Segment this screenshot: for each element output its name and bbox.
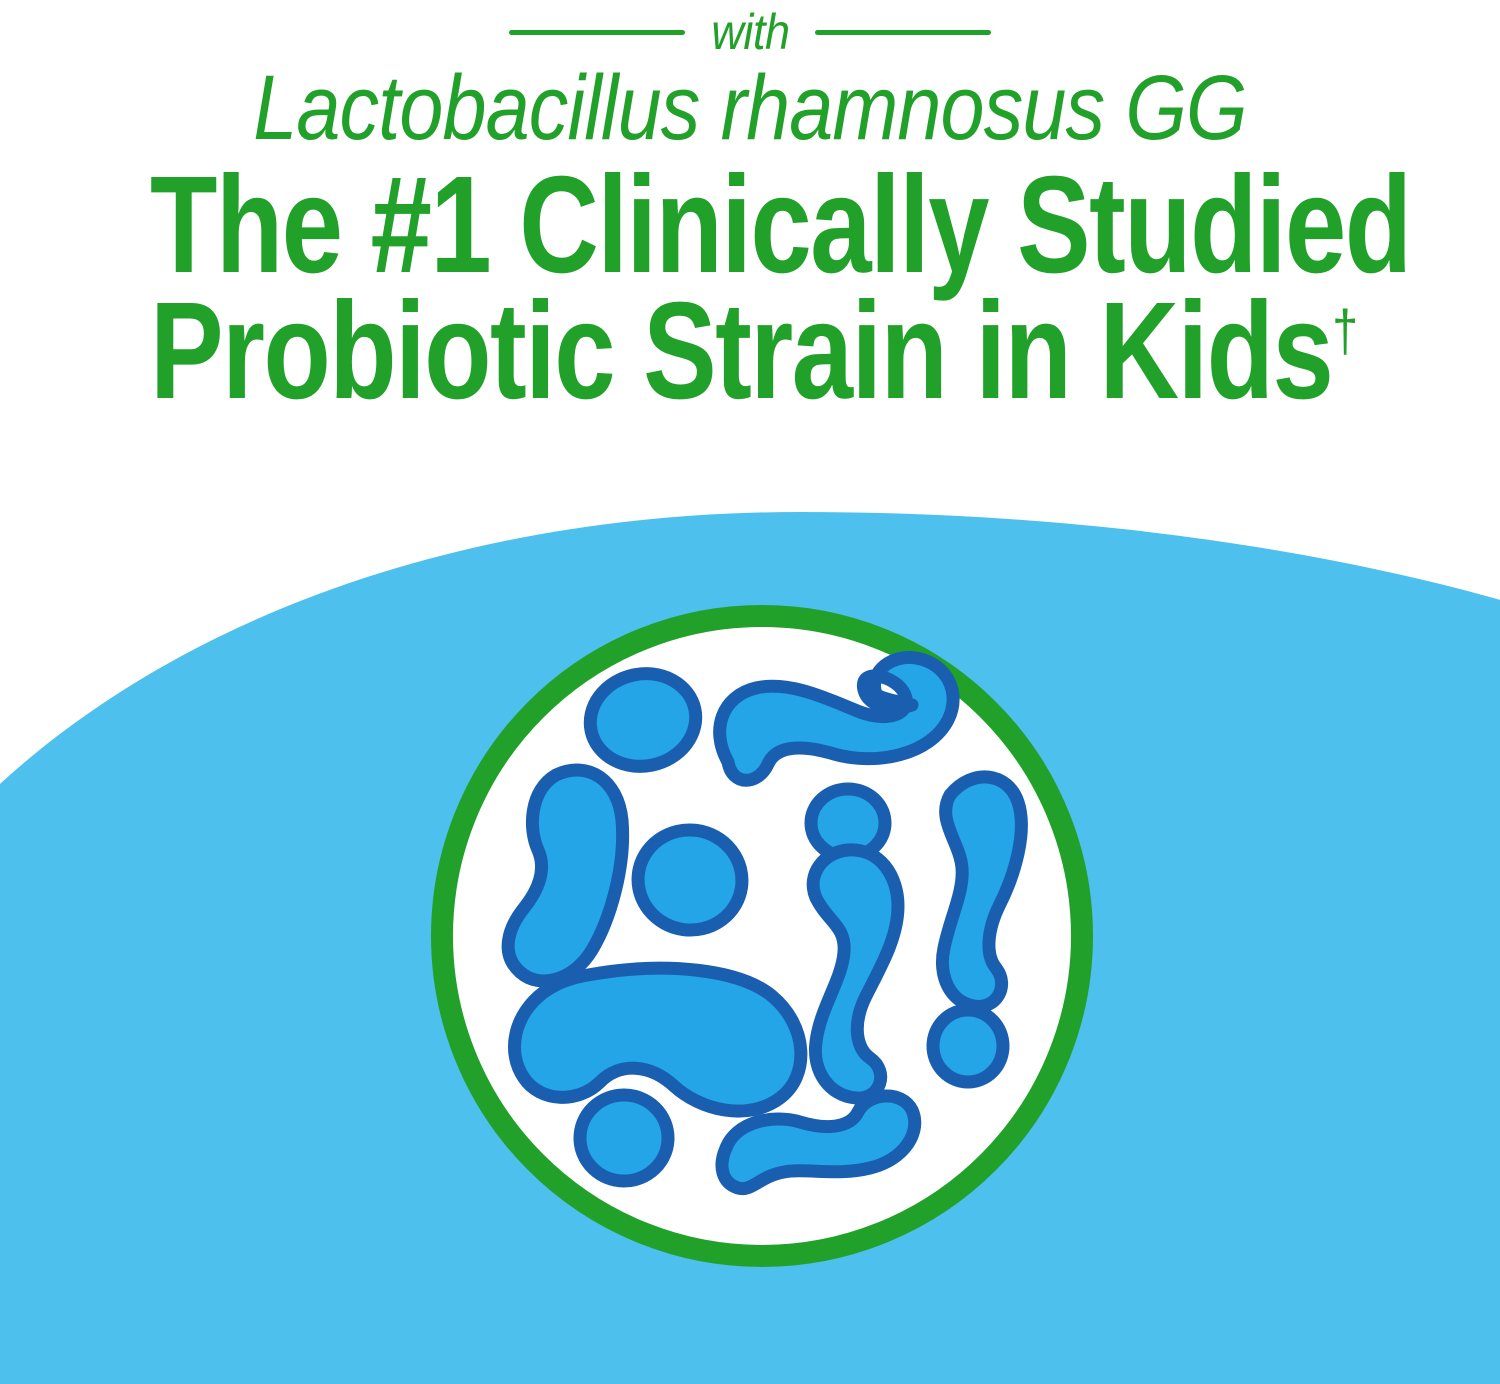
species-name: Lactobacillus rhamnosus GG (105, 58, 1395, 158)
bacteria-round-center (632, 823, 749, 937)
bacteria-small-round-right (933, 1010, 1003, 1082)
eyebrow-label: with (711, 7, 789, 57)
bacteria-round-bottom-left (580, 1095, 668, 1181)
eyebrow-row: with (0, 4, 1500, 60)
footnote-dagger-marker: † (1332, 299, 1358, 364)
probiotic-promo-banner: with Lactobacillus rhamnosus GG The #1 C… (0, 0, 1500, 1384)
eyebrow-rule-left (509, 30, 685, 35)
header-text-block: with Lactobacillus rhamnosus GG The #1 C… (0, 0, 1500, 470)
headline-line-2-text: Probiotic Strain in Kids (150, 274, 1332, 428)
eyebrow-rule-right (815, 30, 991, 35)
headline-line-2: Probiotic Strain in Kids† (150, 282, 1350, 420)
